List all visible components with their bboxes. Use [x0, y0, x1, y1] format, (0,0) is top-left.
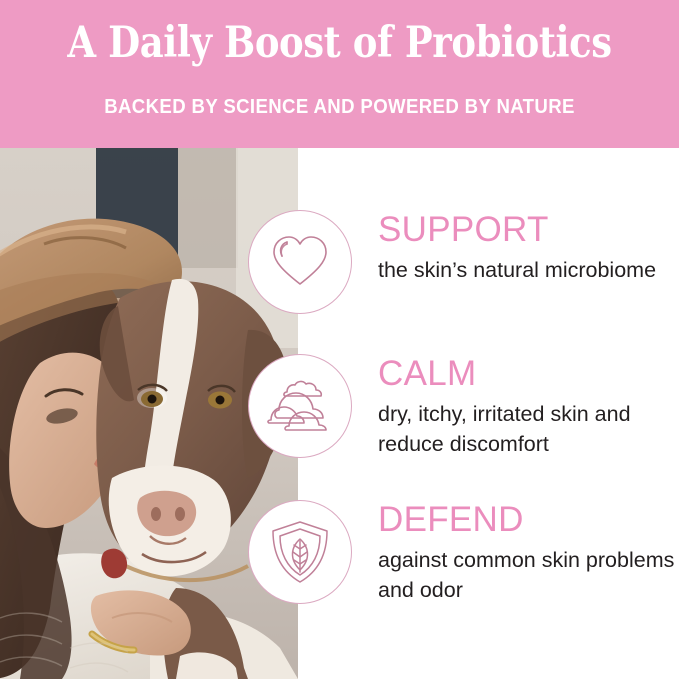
- benefit-description: the skin’s natural microbiome: [378, 255, 678, 285]
- benefit-description: against common skin problems and odor: [378, 545, 678, 605]
- benefit-title: SUPPORT: [378, 209, 678, 251]
- benefits-panel: SUPPORT the skin’s natural microbiome CA…: [298, 148, 679, 679]
- benefit-title: DEFEND: [378, 499, 678, 541]
- header-banner: A Daily Boost of Probiotics BACKED BY SC…: [0, 0, 679, 148]
- benefit-title: CALM: [378, 353, 678, 395]
- clouds-icon: [248, 354, 352, 458]
- page-title: A Daily Boost of Probiotics: [48, 16, 632, 70]
- promo-image: A Daily Boost of Probiotics BACKED BY SC…: [0, 0, 679, 679]
- page-subtitle: BACKED BY SCIENCE AND POWERED BY NATURE: [24, 94, 655, 120]
- benefit-description: dry, itchy, irritated skin and reduce di…: [378, 399, 678, 459]
- shield-leaf-icon: [248, 500, 352, 604]
- benefit-text-defend: DEFEND against common skin problems and …: [378, 499, 678, 605]
- benefit-text-support: SUPPORT the skin’s natural microbiome: [378, 209, 678, 285]
- benefit-text-calm: CALM dry, itchy, irritated skin and redu…: [378, 353, 678, 459]
- heart-icon: [248, 210, 352, 314]
